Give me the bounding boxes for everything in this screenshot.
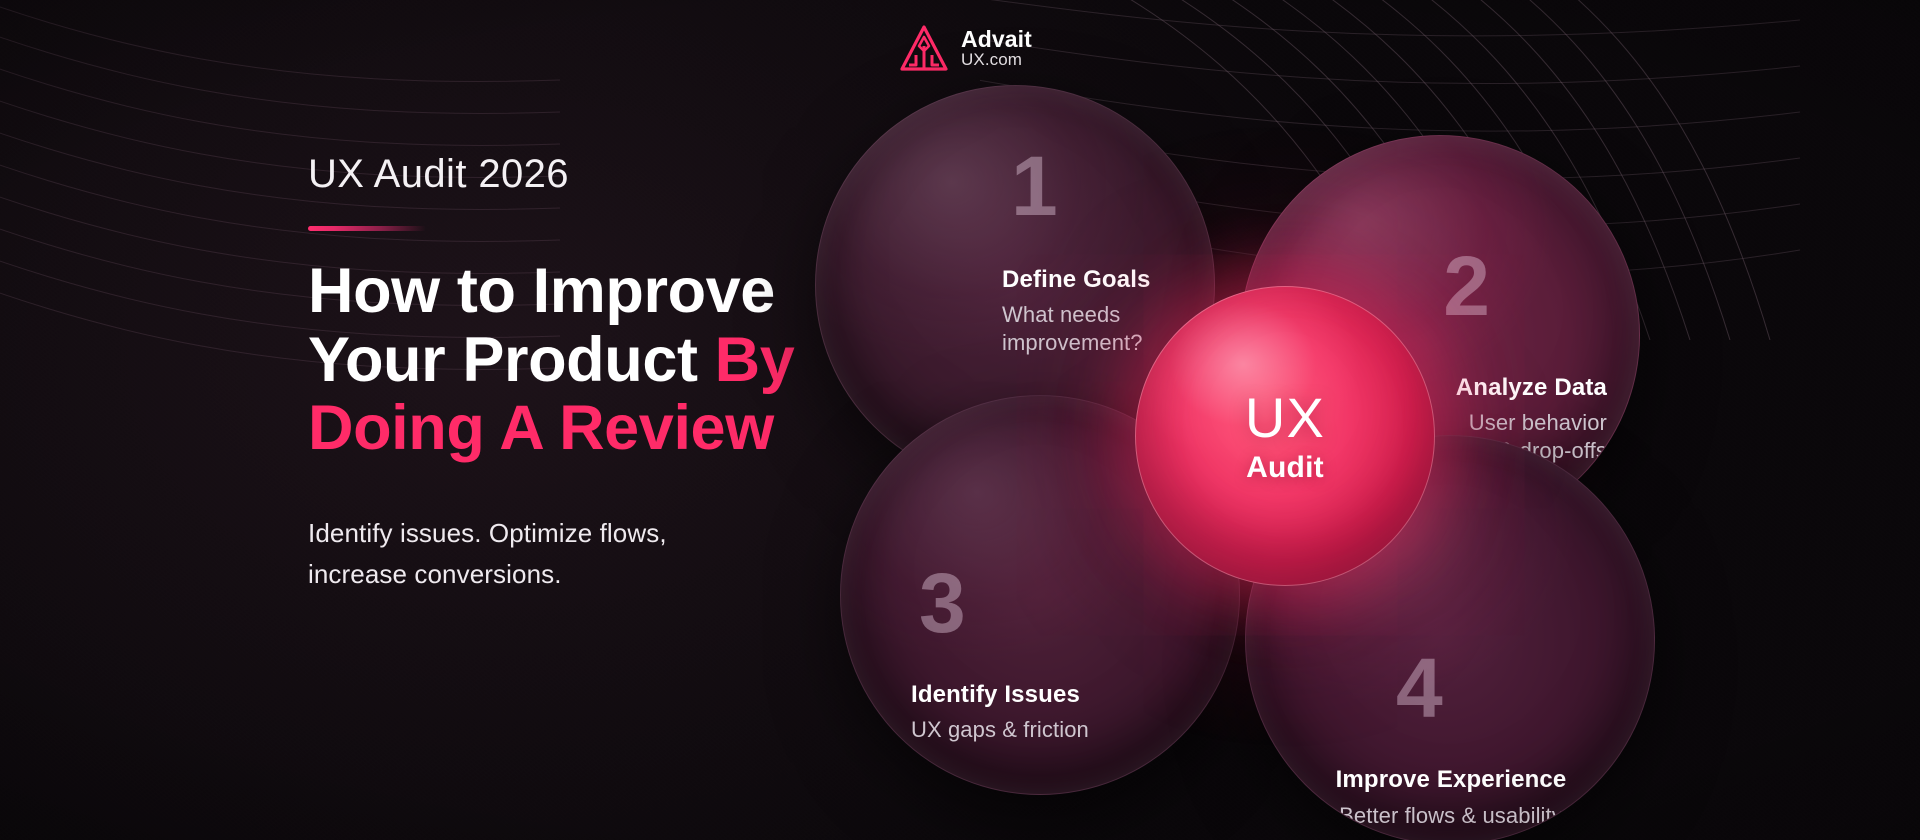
center-bubble-ux-audit[interactable]: UX Audit [1135, 286, 1435, 586]
ux-audit-bubble-diagram: 1 Define Goals What needs improvement? 2… [940, 60, 1640, 760]
step-title: Identify Issues [911, 681, 1080, 709]
step-description-line-2: improvement? [1002, 330, 1143, 355]
step-title: Improve Experience [1245, 766, 1655, 794]
subcopy-text: Identify issues. Optimize flows, increas… [308, 513, 908, 594]
step-number: 3 [919, 561, 965, 645]
step-number: 1 [1011, 144, 1057, 228]
headline-block: UX Audit 2026 How to Improve Your Produc… [308, 152, 908, 594]
accent-divider [308, 226, 426, 231]
step-title: Define Goals [1002, 266, 1151, 294]
step-description-line-1: What needs [1002, 302, 1120, 327]
promo-banner: Advait UX.com UX Audit 2026 How to Impro… [0, 0, 1920, 840]
step-description: What needs improvement? [1002, 301, 1143, 357]
step-number: 2 [1443, 244, 1489, 328]
center-bubble-title: UX [1245, 390, 1325, 446]
step-description-line-1: User behavior [1469, 410, 1607, 435]
headline-line-2-white: Your Product [308, 325, 715, 395]
headline-line-1: How to Improve [308, 256, 775, 326]
center-bubble-subtitle: Audit [1246, 453, 1324, 483]
step-title: Analyze Data [1456, 374, 1607, 402]
headline-line-3-accent: Doing A Review [308, 393, 774, 463]
step-description: Better flows & usability [1245, 802, 1655, 830]
step-description: UX gaps & friction [911, 716, 1089, 744]
headline-line-2-accent: By [715, 325, 795, 395]
brand-name: Advait [961, 28, 1032, 51]
kicker-text: UX Audit 2026 [308, 152, 908, 196]
subcopy-line-1: Identify issues. Optimize flows, [308, 518, 667, 548]
step-number: 4 [1396, 646, 1442, 730]
subcopy-line-2: increase conversions. [308, 559, 562, 589]
